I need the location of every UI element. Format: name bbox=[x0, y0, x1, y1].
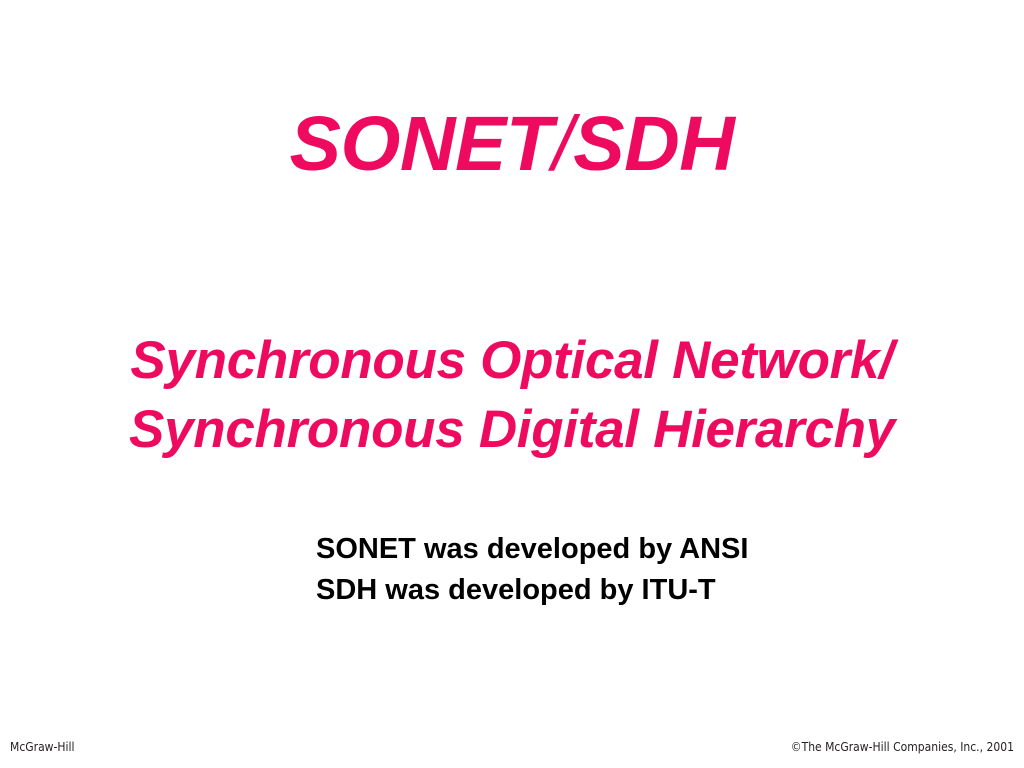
footer-publisher: McGraw-Hill bbox=[10, 740, 75, 754]
slide-body: SONET was developed by ANSI SDH was deve… bbox=[316, 529, 748, 611]
title-part-two: SDH bbox=[573, 104, 734, 184]
subtitle-line-1: Synchronous Optical Network/ bbox=[0, 327, 1024, 396]
slide-footer: McGraw-Hill ©The McGraw-Hill Companies, … bbox=[0, 734, 1024, 768]
footer-copyright: ©The McGraw-Hill Companies, Inc., 2001 bbox=[791, 740, 1014, 754]
subtitle-line-2: Synchronous Digital Hierarchy bbox=[0, 396, 1024, 465]
title-part-one: SONET bbox=[290, 104, 553, 184]
body-line-2: SDH was developed by ITU-T bbox=[316, 570, 748, 611]
slide-title: SONET/SDH bbox=[0, 104, 1024, 184]
slide-subtitle: Synchronous Optical Network/ Synchronous… bbox=[0, 327, 1024, 465]
title-separator-slash: / bbox=[552, 104, 573, 184]
body-line-1: SONET was developed by ANSI bbox=[316, 529, 748, 570]
presentation-slide: SONET/SDH Synchronous Optical Network/ S… bbox=[0, 0, 1024, 768]
